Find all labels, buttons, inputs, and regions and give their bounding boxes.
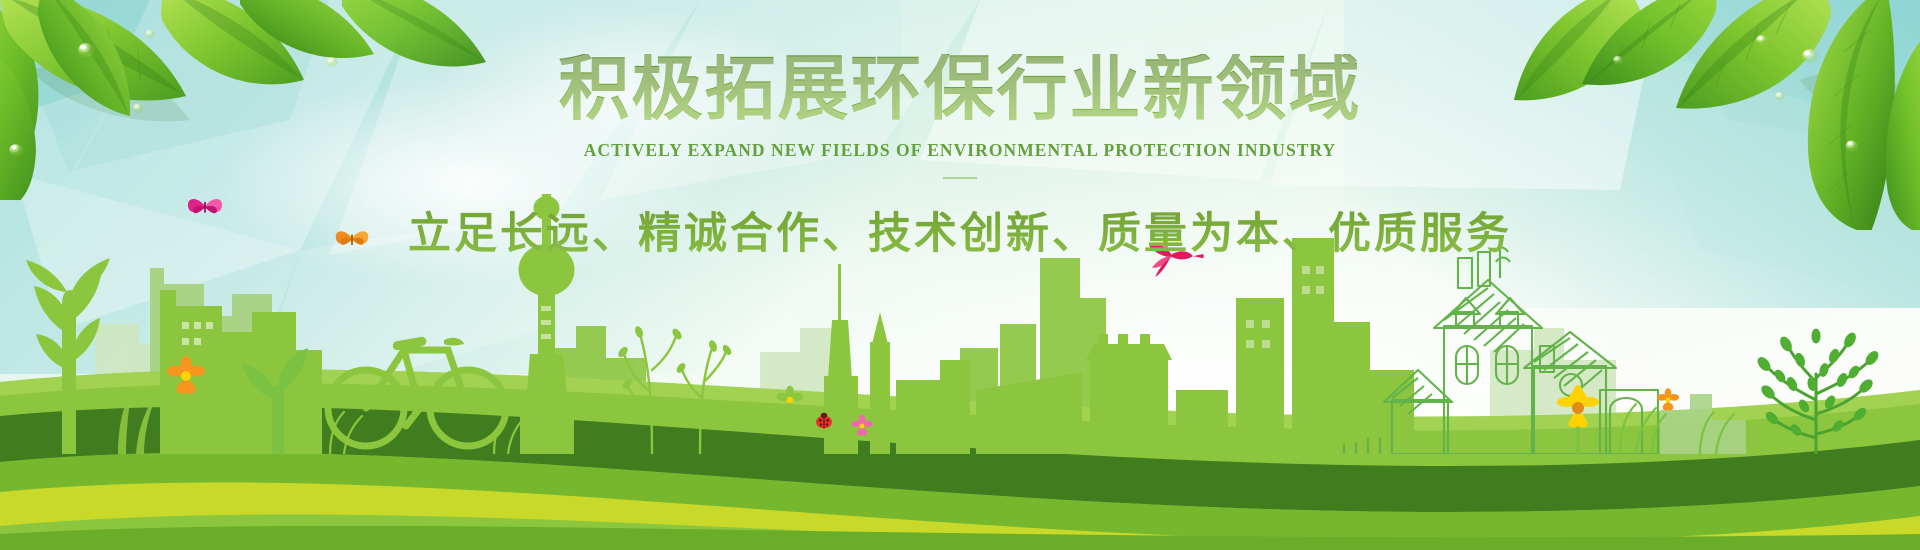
eco-banner: 积极拓展环保行业新领域 ACTIVELY EXPAND NEW FIELDS O… [0, 0, 1920, 550]
house-icon [1344, 246, 1658, 454]
skyline-icon [824, 238, 1414, 454]
grass-icon [118, 390, 156, 454]
butterfly-icon [188, 199, 222, 213]
bicycle-icon [328, 350, 506, 446]
sapling-icon [26, 258, 110, 454]
hummingbird-icon [1149, 244, 1204, 277]
grass-icon [624, 334, 726, 454]
butterfly-icon [336, 231, 369, 245]
scenery-near [0, 194, 1920, 454]
flower-icon [1657, 388, 1679, 412]
flower-icon [1557, 385, 1599, 454]
tree-icon [1755, 329, 1881, 454]
grass-icon [616, 325, 733, 390]
skyline-icon [1660, 394, 1746, 454]
flower-icon [776, 386, 803, 415]
